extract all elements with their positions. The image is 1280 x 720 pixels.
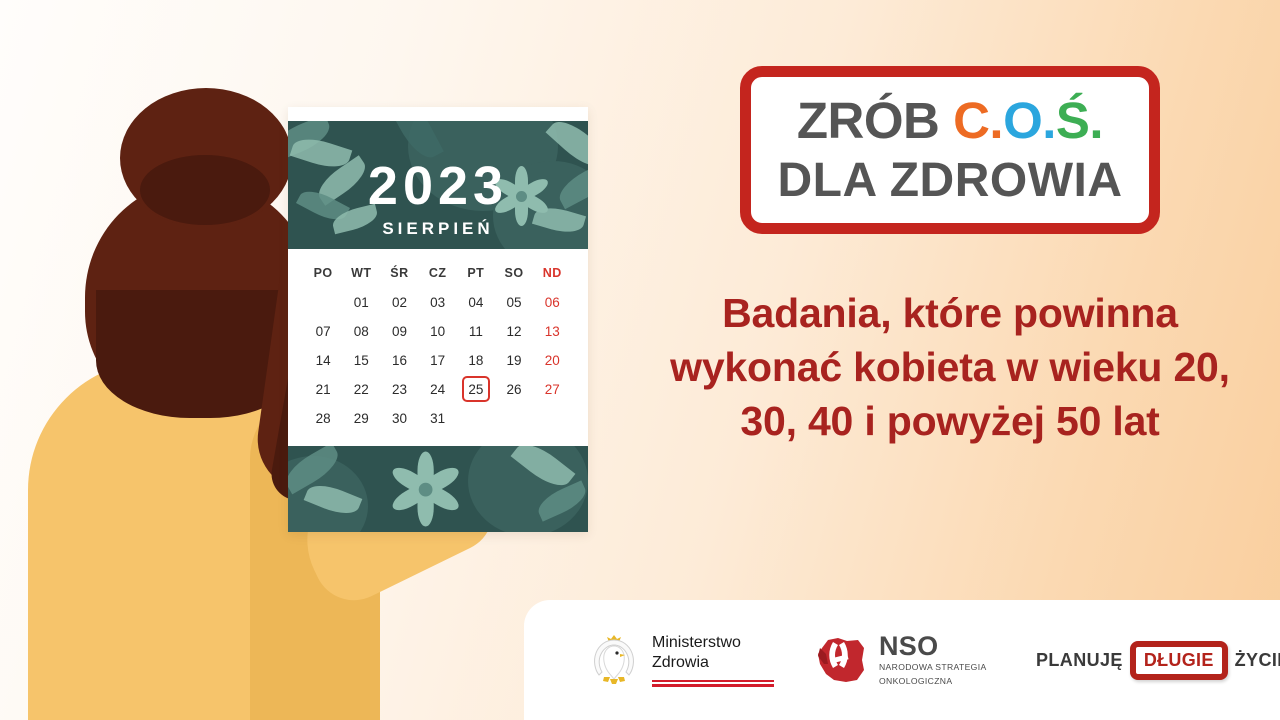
calendar-day-17[interactable]: 17 — [419, 346, 457, 375]
calendar-day-31[interactable]: 31 — [419, 404, 457, 433]
calendar-day-20[interactable]: 20 — [533, 346, 571, 375]
nso-text: NSO NARODOWA STRATEGIA ONKOLOGICZNA — [879, 633, 987, 688]
calendar-day-16[interactable]: 16 — [380, 346, 418, 375]
calendar-week-row: 07080910111213 — [304, 317, 572, 346]
calendar-day-11[interactable]: 11 — [457, 317, 495, 346]
calendar-day-13[interactable]: 13 — [533, 317, 571, 346]
calendar-grid: POWTŚRCZPTSOND 0102030405060708091011121… — [304, 259, 572, 433]
calendar-day-empty — [495, 404, 533, 433]
calendar-day-12[interactable]: 12 — [495, 317, 533, 346]
calendar-weekday-cz: CZ — [419, 259, 457, 288]
calendar-month: SIERPIEŃ — [288, 219, 588, 239]
calendar-day-18[interactable]: 18 — [457, 346, 495, 375]
calendar: 2023 SIERPIEŃ POWTŚRCZPTSOND 01020304050… — [288, 107, 588, 532]
calendar-day-07[interactable]: 07 — [304, 317, 342, 346]
calendar-day-01[interactable]: 01 — [342, 288, 380, 317]
calendar-day-28[interactable]: 28 — [304, 404, 342, 433]
pdz-word-planuje: PLANUJĘ — [1036, 650, 1123, 671]
ministry-of-health-logo: Ministerstwo Zdrowia — [586, 600, 774, 720]
calendar-weekday-śr: ŚR — [380, 259, 418, 288]
calendar-day-02[interactable]: 02 — [380, 288, 418, 317]
logo-line-1: ZRÓB C.O.Ś. — [751, 95, 1149, 146]
calendar-week-row: 28293031 — [304, 404, 572, 433]
calendar-day-15[interactable]: 15 — [342, 346, 380, 375]
ministry-flag-bar — [652, 680, 774, 687]
calendar-year: 2023 — [288, 159, 588, 213]
ministry-line-2: Zdrowia — [652, 653, 774, 673]
calendar-weekday-row: POWTŚRCZPTSOND — [304, 259, 572, 288]
pdz-boxed-word: DŁUGIE — [1130, 641, 1228, 680]
planuje-dlugie-zycie-logo: PLANUJĘ DŁUGIE ŻYCIE — [1036, 600, 1280, 720]
calendar-day-14[interactable]: 14 — [304, 346, 342, 375]
calendar-day-empty — [533, 404, 571, 433]
calendar-day-04[interactable]: 04 — [457, 288, 495, 317]
campaign-logo-badge: ZRÓB C.O.Ś. DLA ZDROWIA — [740, 66, 1160, 234]
logo-line-2: DLA ZDROWIA — [751, 157, 1149, 205]
logo-letter-s: Ś. — [1056, 92, 1103, 149]
logo-word-zrob: ZRÓB — [797, 92, 953, 149]
calendar-day-23[interactable]: 23 — [380, 375, 418, 404]
footer-panel: Ministerstwo Zdrowia — [524, 600, 1280, 720]
campaign-poster: 2023 SIERPIEŃ POWTŚRCZPTSOND 01020304050… — [0, 0, 1280, 720]
calendar-weekday-po: PO — [304, 259, 342, 288]
calendar-week-row: 14151617181920 — [304, 346, 572, 375]
calendar-day-27[interactable]: 27 — [533, 375, 571, 404]
pdz-word-zycie: ŻYCIE — [1235, 650, 1280, 671]
calendar-header-band: 2023 SIERPIEŃ — [288, 121, 588, 249]
ministry-text: Ministerstwo Zdrowia — [652, 633, 774, 686]
calendar-footer-band — [288, 446, 588, 532]
calendar-day-25[interactable]: 25 — [457, 375, 495, 404]
calendar-weekday-nd: ND — [533, 259, 571, 288]
calendar-day-26[interactable]: 26 — [495, 375, 533, 404]
polish-eagle-icon — [586, 629, 642, 691]
calendar-day-09[interactable]: 09 — [380, 317, 418, 346]
nso-subtitle-1: NARODOWA STRATEGIA — [879, 662, 987, 673]
calendar-week-row: 21222324252627 — [304, 375, 572, 404]
calendar-day-08[interactable]: 08 — [342, 317, 380, 346]
nso-logo: NSO NARODOWA STRATEGIA ONKOLOGICZNA — [814, 600, 987, 720]
calendar-day-24[interactable]: 24 — [419, 375, 457, 404]
calendar-day-empty — [457, 404, 495, 433]
hair-bun-shadow — [140, 155, 270, 225]
calendar-day-30[interactable]: 30 — [380, 404, 418, 433]
calendar-week-row: 010203040506 — [304, 288, 572, 317]
nso-acronym: NSO — [879, 633, 987, 659]
calendar-weekday-so: SO — [495, 259, 533, 288]
calendar-weekday-pt: PT — [457, 259, 495, 288]
decor-flower — [389, 453, 462, 526]
calendar-day-06[interactable]: 06 — [533, 288, 571, 317]
calendar-day-10[interactable]: 10 — [419, 317, 457, 346]
calendar-week-rows: 0102030405060708091011121314151617181920… — [304, 288, 572, 433]
calendar-day-empty — [304, 288, 342, 317]
poland-map-icon — [814, 634, 868, 686]
headline-text: Badania, które powinna wykonać kobieta w… — [640, 286, 1260, 448]
calendar-day-21[interactable]: 21 — [304, 375, 342, 404]
logo-letter-o: O. — [1003, 92, 1056, 149]
calendar-weekday-wt: WT — [342, 259, 380, 288]
calendar-day-29[interactable]: 29 — [342, 404, 380, 433]
calendar-day-03[interactable]: 03 — [419, 288, 457, 317]
nso-subtitle-2: ONKOLOGICZNA — [879, 676, 987, 687]
calendar-day-22[interactable]: 22 — [342, 375, 380, 404]
logo-letter-c: C. — [953, 92, 1003, 149]
calendar-day-05[interactable]: 05 — [495, 288, 533, 317]
calendar-day-19[interactable]: 19 — [495, 346, 533, 375]
ministry-line-1: Ministerstwo — [652, 633, 774, 653]
